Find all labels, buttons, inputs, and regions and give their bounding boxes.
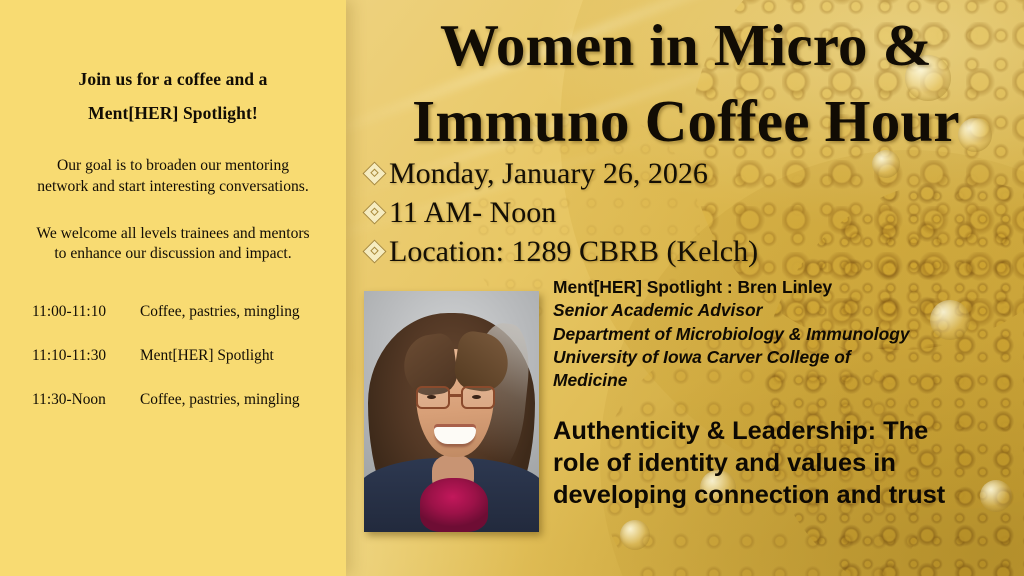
event-detail-time: 11 AM- Noon	[366, 194, 758, 231]
goal-line-2: network and start interesting conversati…	[16, 177, 330, 198]
left-info-panel: Join us for a coffee and a Ment[HER] Spo…	[0, 0, 346, 576]
schedule-row: 11:10-11:30 Ment[HER] Spotlight	[32, 347, 338, 365]
headshot-glasses	[414, 386, 498, 410]
invitation-heading-line-2: Ment[HER] Spotlight!	[8, 96, 338, 130]
event-detail-location-text: Location: 1289 CBRB (Kelch)	[389, 233, 758, 270]
diamond-bullet-icon	[362, 201, 386, 225]
invitation-heading: Join us for a coffee and a Ment[HER] Spo…	[8, 62, 338, 130]
talk-title-block: Authenticity & Leadership: The role of i…	[553, 415, 1023, 511]
schedule-time: 11:30-Noon	[32, 391, 140, 409]
schedule-description: Coffee, pastries, mingling	[140, 303, 300, 321]
headshot-glasses-bridge	[450, 394, 461, 397]
schedule-description: Ment[HER] Spotlight	[140, 347, 274, 365]
talk-title-line-3: developing connection and trust	[553, 479, 1023, 511]
goal-paragraph: Our goal is to broaden our mentoring net…	[8, 156, 338, 197]
speaker-department: Department of Microbiology & Immunology	[553, 323, 1019, 346]
diamond-bullet-icon	[362, 240, 386, 264]
speaker-institution-line-2: Medicine	[553, 369, 1019, 392]
headshot-eye-right	[472, 395, 481, 399]
coffee-hour-flyer: Women in Micro & Immuno Coffee Hour Mond…	[0, 0, 1024, 576]
title-line-1: Women in Micro &	[356, 8, 1016, 84]
schedule-row: 11:30-Noon Coffee, pastries, mingling	[32, 391, 338, 409]
welcome-line-1: We welcome all levels trainees and mento…	[16, 224, 330, 245]
diamond-bullet-icon	[362, 162, 386, 186]
speaker-name-line: Ment[HER] Spotlight : Bren Linley	[553, 276, 1019, 299]
event-details-list: Monday, January 26, 2026 11 AM- Noon Loc…	[366, 155, 758, 273]
talk-title-line-2: role of identity and values in	[553, 447, 1023, 479]
event-detail-date: Monday, January 26, 2026	[366, 155, 758, 192]
headshot-eye-left	[427, 395, 436, 399]
speaker-institution-line-1: University of Iowa Carver College of	[553, 346, 1019, 369]
schedule-row: 11:00-11:10 Coffee, pastries, mingling	[32, 303, 338, 321]
flyer-title: Women in Micro & Immuno Coffee Hour	[356, 8, 1016, 159]
schedule-time: 11:10-11:30	[32, 347, 140, 365]
event-detail-location: Location: 1289 CBRB (Kelch)	[366, 233, 758, 270]
coffee-bubble	[620, 520, 650, 550]
schedule-description: Coffee, pastries, mingling	[140, 391, 300, 409]
goal-line-1: Our goal is to broaden our mentoring	[16, 156, 330, 177]
welcome-line-2: to enhance our discussion and impact.	[16, 244, 330, 265]
talk-title-line-1: Authenticity & Leadership: The	[553, 415, 1023, 447]
event-detail-date-text: Monday, January 26, 2026	[389, 155, 708, 192]
invitation-heading-line-1: Join us for a coffee and a	[8, 62, 338, 96]
schedule-list: 11:00-11:10 Coffee, pastries, mingling 1…	[8, 303, 338, 409]
speaker-info-block: Ment[HER] Spotlight : Bren Linley Senior…	[553, 276, 1019, 393]
headshot-scarf	[420, 478, 488, 532]
speaker-role: Senior Academic Advisor	[553, 299, 1019, 322]
welcome-paragraph: We welcome all levels trainees and mento…	[8, 224, 338, 265]
schedule-time: 11:00-11:10	[32, 303, 140, 321]
event-detail-time-text: 11 AM- Noon	[389, 194, 556, 231]
headshot-smile	[434, 427, 476, 444]
speaker-headshot-photo	[364, 291, 539, 532]
title-line-2: Immuno Coffee Hour	[356, 84, 1016, 160]
